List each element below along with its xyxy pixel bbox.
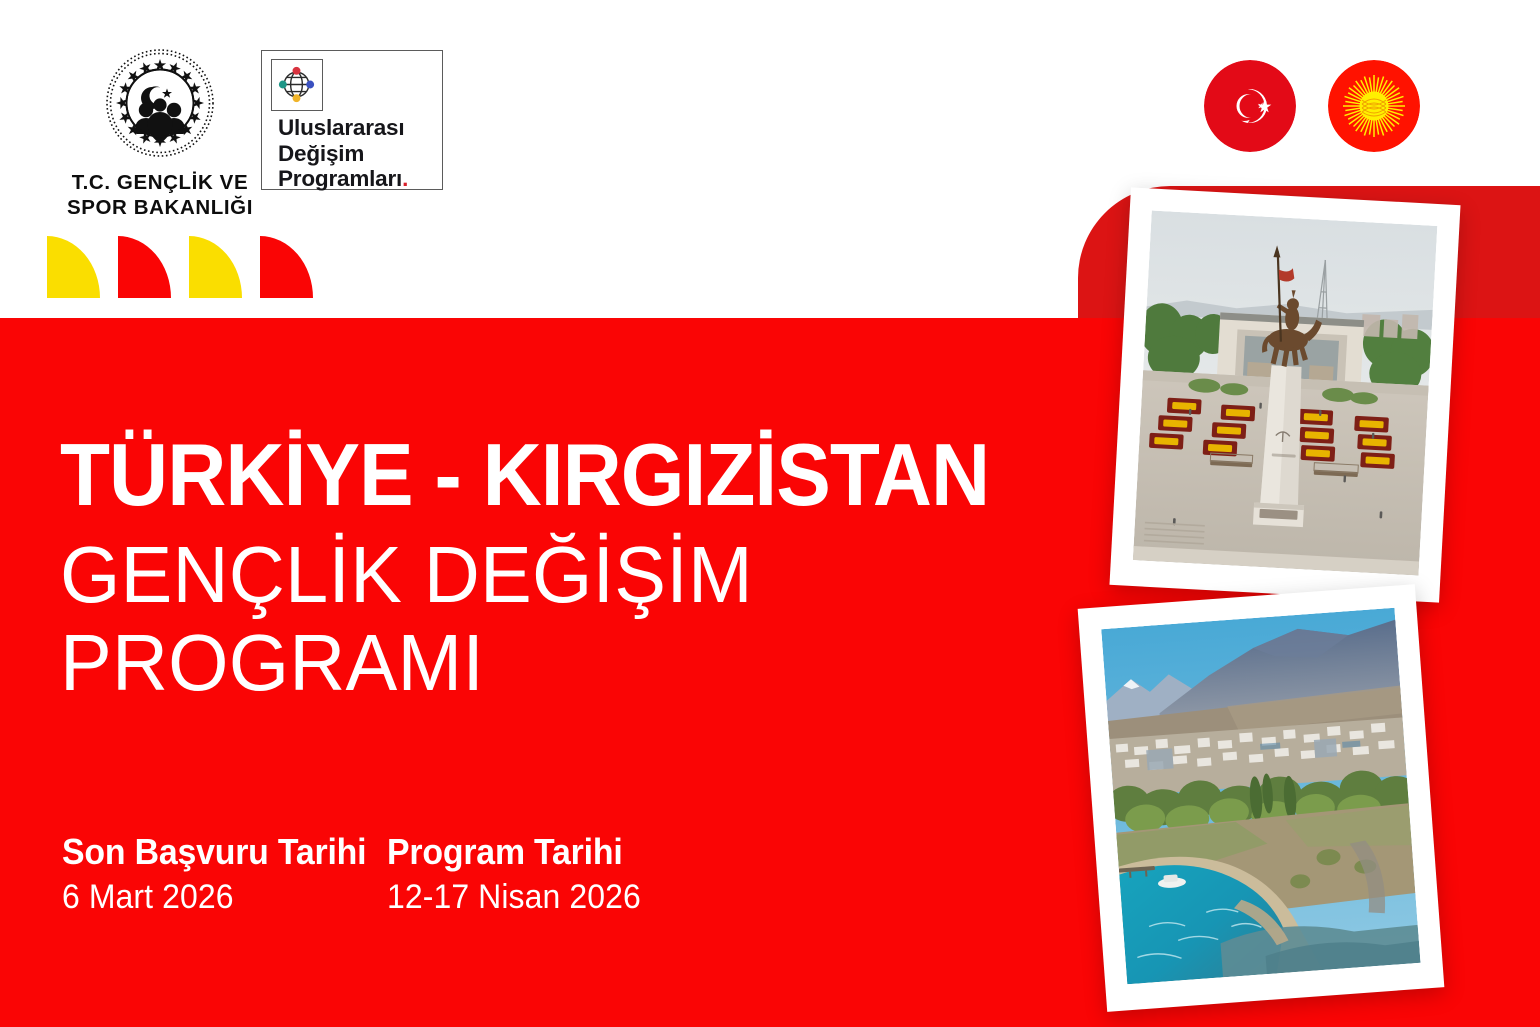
decor-quarter-circles — [47, 236, 313, 298]
headline-line-1: TÜRKİYE - KIRGIZİSTAN — [60, 432, 971, 518]
quarter-circle-red-1 — [118, 236, 171, 298]
exchange-logo-line1: Uluslararası — [278, 115, 434, 141]
quarter-circle-red-2 — [260, 236, 313, 298]
photo-2-frame — [1101, 608, 1420, 985]
exchange-logo-period: . — [402, 166, 408, 191]
exchange-programmes-logo: Uluslararası Değişim Programları. — [261, 50, 443, 190]
page-title: TÜRKİYE - KIRGIZİSTAN GENÇLİK DEĞİŞİM PR… — [60, 432, 1040, 705]
program-date-label: Program Tarihi — [387, 832, 791, 872]
kyrgyzstan-flag — [1328, 60, 1420, 152]
deadline-column: Son Başvuru Tarihi 6 Mart 2026 — [62, 832, 387, 916]
exchange-logo-line2: Değişim — [278, 141, 434, 167]
headline-line-2: GENÇLİK DEĞİŞİM — [60, 532, 1011, 618]
ministry-logo-line1: T.C. GENÇLİK VE — [48, 170, 272, 195]
photo-ala-too-square-manas-statue — [1109, 187, 1460, 602]
turkey-flag — [1204, 60, 1296, 152]
ministry-logo: T.C. GENÇLİK VE SPOR BAKANLIĞI — [48, 48, 272, 220]
headline-line-3: PROGRAMI — [60, 620, 1011, 706]
exchange-logo-line3-wrap: Programları. — [278, 166, 434, 192]
program-date-column: Program Tarihi 12-17 Nisan 2026 — [387, 832, 817, 916]
program-date-value: 12-17 Nisan 2026 — [387, 878, 791, 916]
turkish-ministry-emblem — [105, 48, 215, 158]
exchange-programmes-text: Uluslararası Değişim Programları. — [278, 115, 434, 192]
poster-root: T.C. GENÇLİK VE SPOR BAKANLIĞI — [0, 0, 1540, 1027]
deadline-value: 6 Mart 2026 — [62, 878, 368, 916]
photo-1-frame — [1133, 211, 1438, 576]
globe-network-icon — [271, 59, 323, 111]
exchange-logo-line3: Programları — [278, 166, 402, 191]
dates-block: Son Başvuru Tarihi 6 Mart 2026 Program T… — [62, 832, 817, 916]
flags-group — [1204, 60, 1420, 152]
photo-issyk-kul-lake-shore — [1078, 584, 1445, 1012]
deadline-label: Son Başvuru Tarihi — [62, 832, 368, 872]
ministry-logo-line2: SPOR BAKANLIĞI — [48, 195, 272, 220]
ministry-logo-text: T.C. GENÇLİK VE SPOR BAKANLIĞI — [48, 170, 272, 220]
quarter-circle-yellow-2 — [189, 236, 242, 298]
quarter-circle-yellow-1 — [47, 236, 100, 298]
